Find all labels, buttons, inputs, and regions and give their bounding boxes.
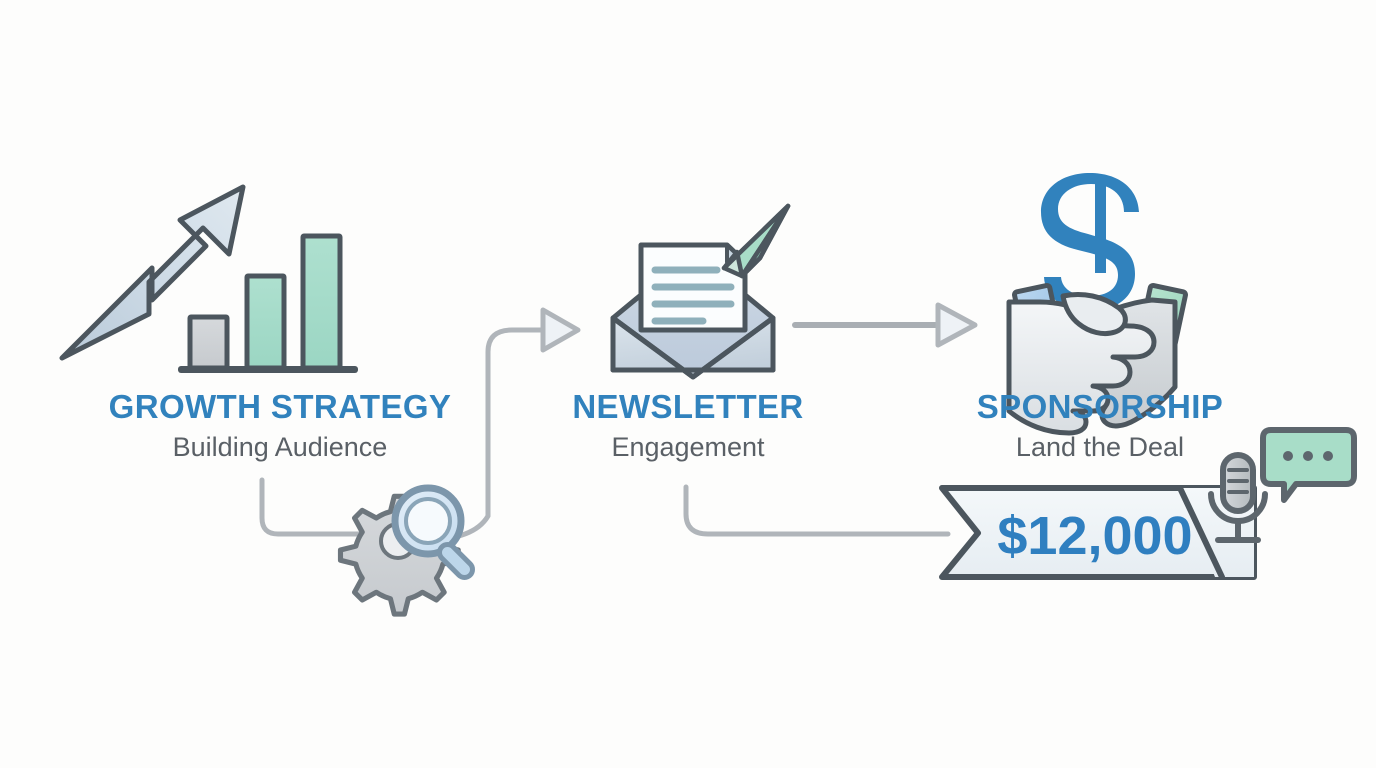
arrowhead-to-newsletter — [543, 310, 578, 350]
connector-segment-left — [262, 480, 372, 534]
step-subtitle-growth: Building Audience — [65, 432, 495, 463]
gear-magnifier-icon — [340, 488, 475, 614]
step-title-sponsorship: SPONSORSHIP — [922, 390, 1278, 425]
step-label-sponsorship: SPONSORSHIP Land the Deal — [922, 390, 1278, 463]
bar-1 — [190, 317, 227, 368]
step-subtitle-newsletter: Engagement — [508, 432, 868, 463]
step-title-growth: GROWTH STRATEGY — [65, 390, 495, 425]
arrowhead-to-sponsorship — [938, 305, 975, 345]
step-label-newsletter: NEWSLETTER Engagement — [508, 390, 868, 463]
banner-amount-value: $12,000 — [975, 505, 1215, 567]
open-envelope-paper-plane-icon — [613, 206, 788, 377]
growth-arrow-bar-chart-icon — [62, 187, 358, 373]
connector-newsletter-to-sponsorship — [795, 305, 975, 345]
bar-3 — [303, 236, 340, 368]
paper-plane-icon — [724, 206, 788, 276]
infographic-canvas: GROWTH STRATEGY Building Audience NEWSLE… — [0, 0, 1376, 768]
bar-2 — [247, 276, 284, 368]
step-label-growth: GROWTH STRATEGY Building Audience — [65, 390, 495, 463]
bar-baseline — [178, 366, 358, 373]
diagram-artwork — [0, 0, 1376, 768]
step-title-newsletter: NEWSLETTER — [508, 390, 868, 425]
dollar-sign-icon — [1041, 173, 1139, 311]
connector-newsletter-to-banner — [686, 487, 948, 534]
bar-chart-icon — [178, 236, 358, 373]
typing-dots — [1283, 451, 1333, 461]
connector-line-to-banner — [686, 487, 948, 534]
step-subtitle-sponsorship: Land the Deal — [922, 432, 1278, 463]
